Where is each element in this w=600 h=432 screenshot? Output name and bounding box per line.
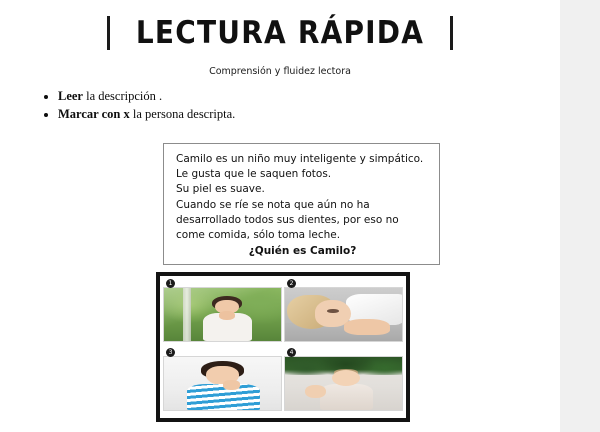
passage-line: Le gusta que le saquen fotos. bbox=[176, 167, 429, 182]
photo4-body bbox=[320, 384, 373, 411]
page-subtitle: Comprensión y fluidez lectora bbox=[0, 66, 560, 77]
photo-image-baby-on-cushion[interactable] bbox=[284, 356, 403, 411]
passage-question: ¿Quién es Camilo? bbox=[176, 244, 429, 259]
instruction-text: la persona descripta. bbox=[130, 107, 236, 121]
photo2-eye bbox=[327, 309, 339, 313]
passage-line: Camilo es un niño muy inteligente y simp… bbox=[176, 152, 429, 167]
worksheet-page: LECTURA RÁPIDA Comprensión y fluidez lec… bbox=[0, 0, 560, 432]
photo4-head bbox=[332, 370, 360, 386]
photo-option-3[interactable]: 3 bbox=[163, 348, 282, 415]
instruction-keyword: Marcar con x bbox=[58, 107, 130, 121]
option-number-badge: 2 bbox=[287, 279, 296, 288]
option-number-badge: 1 bbox=[166, 279, 175, 288]
option-number-badge: 3 bbox=[166, 348, 175, 357]
passage-box: Camilo es un niño muy inteligente y simp… bbox=[163, 143, 440, 265]
photo2-arm bbox=[344, 319, 391, 335]
photo-image-boy-outdoors[interactable] bbox=[163, 287, 282, 342]
photo-option-1[interactable]: 1 bbox=[163, 279, 282, 346]
right-margin-strip bbox=[560, 0, 600, 432]
photo-option-4[interactable]: 4 bbox=[284, 348, 403, 415]
page-title: LECTURA RÁPIDA bbox=[136, 17, 424, 48]
title-left-rule-icon bbox=[107, 16, 110, 50]
instruction-list: Leer la descripción . Marcar con x la pe… bbox=[40, 89, 235, 126]
list-item: Leer la descripción . bbox=[58, 89, 235, 103]
option-number-badge: 4 bbox=[287, 348, 296, 357]
title-row: LECTURA RÁPIDA bbox=[0, 16, 560, 50]
instruction-text: la descripción . bbox=[83, 89, 162, 103]
title-right-rule-icon bbox=[450, 16, 453, 50]
photo-image-boy-striped-shirt[interactable] bbox=[163, 356, 282, 411]
passage-line: Cuando se ríe se nota que aún no ha bbox=[176, 198, 429, 213]
passage-line: desarrollado todos sus dientes, por eso … bbox=[176, 213, 429, 228]
photo1-hands bbox=[219, 311, 235, 319]
photo-option-grid: 1 2 3 bbox=[156, 272, 410, 422]
photo-option-2[interactable]: 2 bbox=[284, 279, 403, 346]
photo-image-child-lying-down[interactable] bbox=[284, 287, 403, 342]
photo1-pole bbox=[183, 288, 191, 341]
passage-line: come comida, sólo toma leche. bbox=[176, 228, 429, 243]
photo4-arm bbox=[305, 385, 326, 399]
list-item: Marcar con x la persona descripta. bbox=[58, 107, 235, 121]
instruction-keyword: Leer bbox=[58, 89, 83, 103]
photo3-hand bbox=[223, 380, 241, 390]
passage-line: Su piel es suave. bbox=[176, 182, 429, 197]
